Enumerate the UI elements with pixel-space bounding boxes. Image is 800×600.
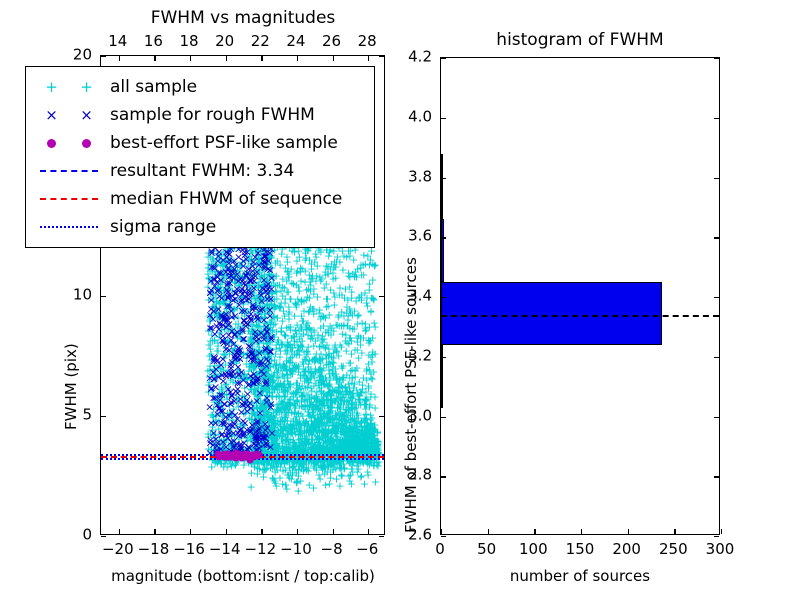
rough-sample-point: × [254,335,263,344]
all-sample-point: + [250,390,259,399]
all-sample-point: + [362,427,371,436]
all-sample-point: + [278,431,287,440]
all-sample-point: + [309,462,318,471]
all-sample-point: + [369,437,378,446]
all-sample-point: + [263,328,272,337]
all-sample-point: + [223,336,232,345]
all-sample-point: + [264,418,273,427]
rough-sample-point: × [253,315,262,324]
all-sample-point: + [263,347,272,356]
all-sample-point: + [212,397,221,406]
all-sample-point: + [335,437,344,446]
all-sample-point: + [353,429,362,438]
all-sample-point: + [349,430,358,439]
all-sample-point: + [297,445,306,454]
hist-x-tick [534,529,535,534]
all-sample-point: + [296,477,305,486]
all-sample-point: + [255,464,264,473]
all-sample-point: + [342,444,351,453]
rough-sample-point: × [220,399,229,408]
all-sample-point: + [257,257,266,266]
rough-sample-point: × [240,251,249,260]
all-sample-point: + [247,381,256,390]
all-sample-point: + [204,380,213,389]
all-sample-point: + [333,375,342,384]
rough-sample-point: × [258,305,267,314]
all-sample-point: + [282,343,291,352]
all-sample-point: + [246,348,255,357]
all-sample-point: + [345,418,354,427]
rough-sample-point: × [212,322,221,331]
all-sample-point: + [258,412,267,421]
all-sample-point: + [254,459,263,468]
all-sample-point: + [222,305,231,314]
all-sample-point: + [268,463,277,472]
all-sample-point: + [345,424,354,433]
all-sample-point: + [250,284,259,293]
rough-sample-point: × [210,354,219,363]
all-sample-point: + [246,330,255,339]
all-sample-point: + [264,441,273,450]
all-sample-point: + [304,308,313,317]
all-sample-point: + [326,265,335,274]
all-sample-point: + [266,295,275,304]
all-sample-point: + [275,441,284,450]
hist-y-ticklabel: 3.6 [408,229,432,244]
all-sample-point: + [301,267,310,276]
all-sample-point: + [246,373,255,382]
all-sample-point: + [254,443,263,452]
hist-y-ticklabel: 3.8 [408,169,432,184]
all-sample-point: + [265,280,274,289]
all-sample-point: + [327,397,336,406]
all-sample-point: + [264,427,273,436]
rough-sample-point: × [210,282,219,291]
all-sample-point: + [265,346,274,355]
all-sample-point: + [326,359,335,368]
rough-sample-point: × [248,261,257,270]
all-sample-point: + [364,470,373,479]
all-sample-point: + [204,260,213,269]
all-sample-point: + [292,424,301,433]
rough-sample-point: × [229,444,238,453]
histogram-bar [441,282,662,345]
all-sample-point: + [254,282,263,291]
all-sample-point: + [353,442,362,451]
all-sample-point: + [273,426,282,435]
rough-sample-point: × [242,395,251,404]
all-sample-point: + [209,405,218,414]
all-sample-point: + [302,326,311,335]
rough-sample-point: × [230,265,239,274]
all-sample-point: + [259,322,268,331]
rough-sample-point: × [232,348,241,357]
all-sample-point: + [283,385,292,394]
all-sample-point: + [291,401,300,410]
all-sample-point: + [255,306,264,315]
all-sample-point: + [321,431,330,440]
all-sample-point: + [323,269,332,278]
rough-sample-point: × [224,412,233,421]
all-sample-point: + [309,410,318,419]
all-sample-point: + [308,369,317,378]
all-sample-point: + [356,442,365,451]
all-sample-point: + [361,438,370,447]
all-sample-point: + [218,418,227,427]
all-sample-point: + [208,426,217,435]
all-sample-point: + [253,357,262,366]
all-sample-point: + [259,339,268,348]
all-sample-point: + [246,305,255,314]
all-sample-point: + [252,265,261,274]
all-sample-point: + [336,436,345,445]
all-sample-point: + [208,302,217,311]
all-sample-point: + [252,411,261,420]
all-sample-point: + [297,464,306,473]
all-sample-point: + [356,333,365,342]
all-sample-point: + [288,469,297,478]
legend-label: resultant FWHM: 3.34 [104,161,294,181]
all-sample-point: + [247,459,256,468]
y-ticklabel: 5 [82,408,92,423]
all-sample-point: + [288,367,297,376]
all-sample-point: + [331,434,340,443]
all-sample-point: + [343,396,352,405]
all-sample-point: + [220,313,229,322]
all-sample-point: + [343,400,352,409]
all-sample-point: + [243,437,252,446]
rough-sample-point: × [242,255,251,264]
all-sample-point: + [231,461,240,470]
all-sample-point: + [334,444,343,453]
all-sample-point: + [228,416,237,425]
all-sample-point: + [328,421,337,430]
all-sample-point: + [263,460,272,469]
all-sample-point: + [296,434,305,443]
all-sample-point: + [302,347,311,356]
all-sample-point: + [319,376,328,385]
all-sample-point: + [308,435,317,444]
all-sample-point: + [296,430,305,439]
all-sample-point: + [243,286,252,295]
all-sample-point: + [317,371,326,380]
all-sample-point: + [270,425,279,434]
all-sample-point: + [219,365,228,374]
legend-label: best-effort PSF-like sample [104,133,338,153]
all-sample-point: + [227,443,236,452]
all-sample-point: + [316,315,325,324]
all-sample-point: + [342,419,351,428]
all-sample-point: + [312,445,321,454]
all-sample-point: + [281,264,290,273]
all-sample-point: + [315,435,324,444]
all-sample-point: + [326,391,335,400]
all-sample-point: + [264,333,273,342]
all-sample-point: + [248,248,257,257]
all-sample-point: + [349,443,358,452]
all-sample-point: + [267,417,276,426]
all-sample-point: + [314,433,323,442]
all-sample-point: + [299,438,308,447]
all-sample-point: + [320,469,329,478]
all-sample-point: + [265,383,274,392]
all-sample-point: + [366,418,375,427]
all-sample-point: + [263,300,272,309]
all-sample-point: + [320,381,329,390]
all-sample-point: + [233,366,242,375]
all-sample-point: + [304,425,313,434]
rough-sample-point: × [227,408,236,417]
all-sample-point: + [293,378,302,387]
all-sample-point: + [298,343,307,352]
all-sample-point: + [319,379,328,388]
all-sample-point: + [283,388,292,397]
all-sample-point: + [277,425,286,434]
all-sample-point: + [368,435,377,444]
rough-sample-point: × [253,249,262,258]
all-sample-point: + [254,342,263,351]
all-sample-point: + [286,469,295,478]
all-sample-point: + [248,405,257,414]
all-sample-point: + [214,402,223,411]
all-sample-point: + [336,407,345,416]
all-sample-point: + [368,350,377,359]
all-sample-point: + [263,433,272,442]
all-sample-point: + [261,373,270,382]
all-sample-point: + [296,264,305,273]
all-sample-point: + [291,300,300,309]
all-sample-point: + [283,430,292,439]
all-sample-point: + [315,444,324,453]
all-sample-point: + [326,460,335,469]
all-sample-point: + [277,386,286,395]
all-sample-point: + [348,426,357,435]
rough-sample-point: × [214,269,223,278]
all-sample-point: + [260,366,269,375]
all-sample-point: + [364,439,373,448]
all-sample-point: + [290,247,299,256]
all-sample-point: + [309,427,318,436]
all-sample-point: + [367,294,376,303]
all-sample-point: + [259,260,268,269]
all-sample-point: + [330,300,339,309]
all-sample-point: + [266,327,275,336]
all-sample-point: + [256,403,265,412]
all-sample-point: + [260,428,269,437]
all-sample-point: + [302,347,311,356]
all-sample-point: + [262,424,271,433]
all-sample-point: + [291,404,300,413]
all-sample-point: + [286,416,295,425]
all-sample-point: + [309,425,318,434]
all-sample-point: + [329,289,338,298]
all-sample-point: + [347,399,356,408]
all-sample-point: + [222,379,231,388]
all-sample-point: + [356,419,365,428]
all-sample-point: + [326,396,335,405]
all-sample-point: + [356,400,365,409]
all-sample-point: + [331,321,340,330]
all-sample-point: + [284,303,293,312]
all-sample-point: + [218,422,227,431]
all-sample-point: + [290,441,299,450]
all-sample-point: + [262,319,271,328]
all-sample-point: + [248,314,257,323]
all-sample-point: + [252,417,261,426]
rough-sample-point: × [206,439,215,448]
all-sample-point: + [257,429,266,438]
all-sample-point: + [332,429,341,438]
rough-sample-point: × [240,306,249,315]
rough-sample-point: × [256,356,265,365]
legend-key: ×× [34,106,104,124]
all-sample-point: + [348,437,357,446]
all-sample-point: + [272,295,281,304]
all-sample-point: + [290,443,299,452]
all-sample-point: + [319,410,328,419]
all-sample-point: + [322,302,331,311]
all-sample-point: + [216,268,225,277]
rough-sample-point: × [235,300,244,309]
all-sample-point: + [357,425,366,434]
rough-sample-point: × [227,368,236,377]
rough-sample-point: × [247,276,256,285]
all-sample-point: + [266,443,275,452]
all-sample-point: + [343,315,352,324]
all-sample-point: + [324,345,333,354]
all-sample-point: + [344,403,353,412]
all-sample-point: + [365,434,374,443]
all-sample-point: + [340,428,349,437]
all-sample-point: + [313,293,322,302]
all-sample-point: + [282,436,291,445]
all-sample-point: + [299,347,308,356]
all-sample-point: + [273,280,282,289]
legend-row-0: ++all sample [34,73,364,101]
all-sample-point: + [280,423,289,432]
all-sample-point: + [236,292,245,301]
all-sample-point: + [266,338,275,347]
rough-sample-point: × [246,275,255,284]
all-sample-point: + [345,421,354,430]
all-sample-point: + [310,463,319,472]
all-sample-point: + [281,426,290,435]
all-sample-point: + [331,341,340,350]
all-sample-point: + [289,438,298,447]
all-sample-point: + [332,374,341,383]
all-sample-point: + [352,422,361,431]
x-ticklabel-bottom: −8 [321,542,343,557]
all-sample-point: + [306,281,315,290]
all-sample-point: + [362,442,371,451]
all-sample-point: + [346,423,355,432]
all-sample-point: + [255,441,264,450]
hist-reference-line-0 [441,315,719,317]
all-sample-point: + [309,305,318,314]
all-sample-point: + [227,410,236,419]
rough-sample-point: × [263,290,272,299]
all-sample-point: + [226,303,235,312]
all-sample-point: + [346,308,355,317]
all-sample-point: + [312,388,321,397]
rough-sample-point: × [238,325,247,334]
all-sample-point: + [332,445,341,454]
all-sample-point: + [362,438,371,447]
all-sample-point: + [313,414,322,423]
all-sample-point: + [227,439,236,448]
all-sample-point: + [247,288,256,297]
all-sample-point: + [335,481,344,490]
rough-sample-point: × [247,288,256,297]
all-sample-point: + [234,320,243,329]
all-sample-point: + [219,261,228,270]
all-sample-point: + [354,432,363,441]
all-sample-point: + [322,419,331,428]
all-sample-point: + [219,435,228,444]
all-sample-point: + [275,281,284,290]
all-sample-point: + [316,412,325,421]
all-sample-point: + [239,351,248,360]
all-sample-point: + [311,444,320,453]
rough-sample-point: × [262,440,271,449]
all-sample-point: + [334,389,343,398]
all-sample-point: + [264,322,273,331]
rough-sample-point: × [228,291,237,300]
all-sample-point: + [262,410,271,419]
all-sample-point: + [263,329,272,338]
all-sample-point: + [346,366,355,375]
all-sample-point: + [278,398,287,407]
all-sample-point: + [273,367,282,376]
all-sample-point: + [290,422,299,431]
all-sample-point: + [265,359,274,368]
all-sample-point: + [249,430,258,439]
all-sample-point: + [356,435,365,444]
all-sample-point: + [209,302,218,311]
all-sample-point: + [351,366,360,375]
all-sample-point: + [222,321,231,330]
all-sample-point: + [345,306,354,315]
all-sample-point: + [216,363,225,372]
rough-sample-point: × [254,433,263,442]
hist-y-tick-left [441,237,446,238]
all-sample-point: + [238,291,247,300]
all-sample-point: + [219,288,228,297]
plus-icon: + [45,80,58,95]
all-sample-point: + [373,443,382,452]
rough-sample-point: × [221,345,230,354]
all-sample-point: + [253,353,262,362]
all-sample-point: + [265,253,274,262]
all-sample-point: + [298,390,307,399]
rough-sample-point: × [215,319,224,328]
all-sample-point: + [300,367,309,376]
all-sample-point: + [287,278,296,287]
all-sample-point: + [317,366,326,375]
all-sample-point: + [318,445,327,454]
all-sample-point: + [315,371,324,380]
all-sample-point: + [278,426,287,435]
all-sample-point: + [254,248,263,257]
all-sample-point: + [227,409,236,418]
all-sample-point: + [252,444,261,453]
all-sample-point: + [205,316,214,325]
rough-sample-point: × [224,430,233,439]
rough-sample-point: × [219,339,228,348]
all-sample-point: + [274,374,283,383]
all-sample-point: + [296,276,305,285]
all-sample-point: + [219,412,228,421]
